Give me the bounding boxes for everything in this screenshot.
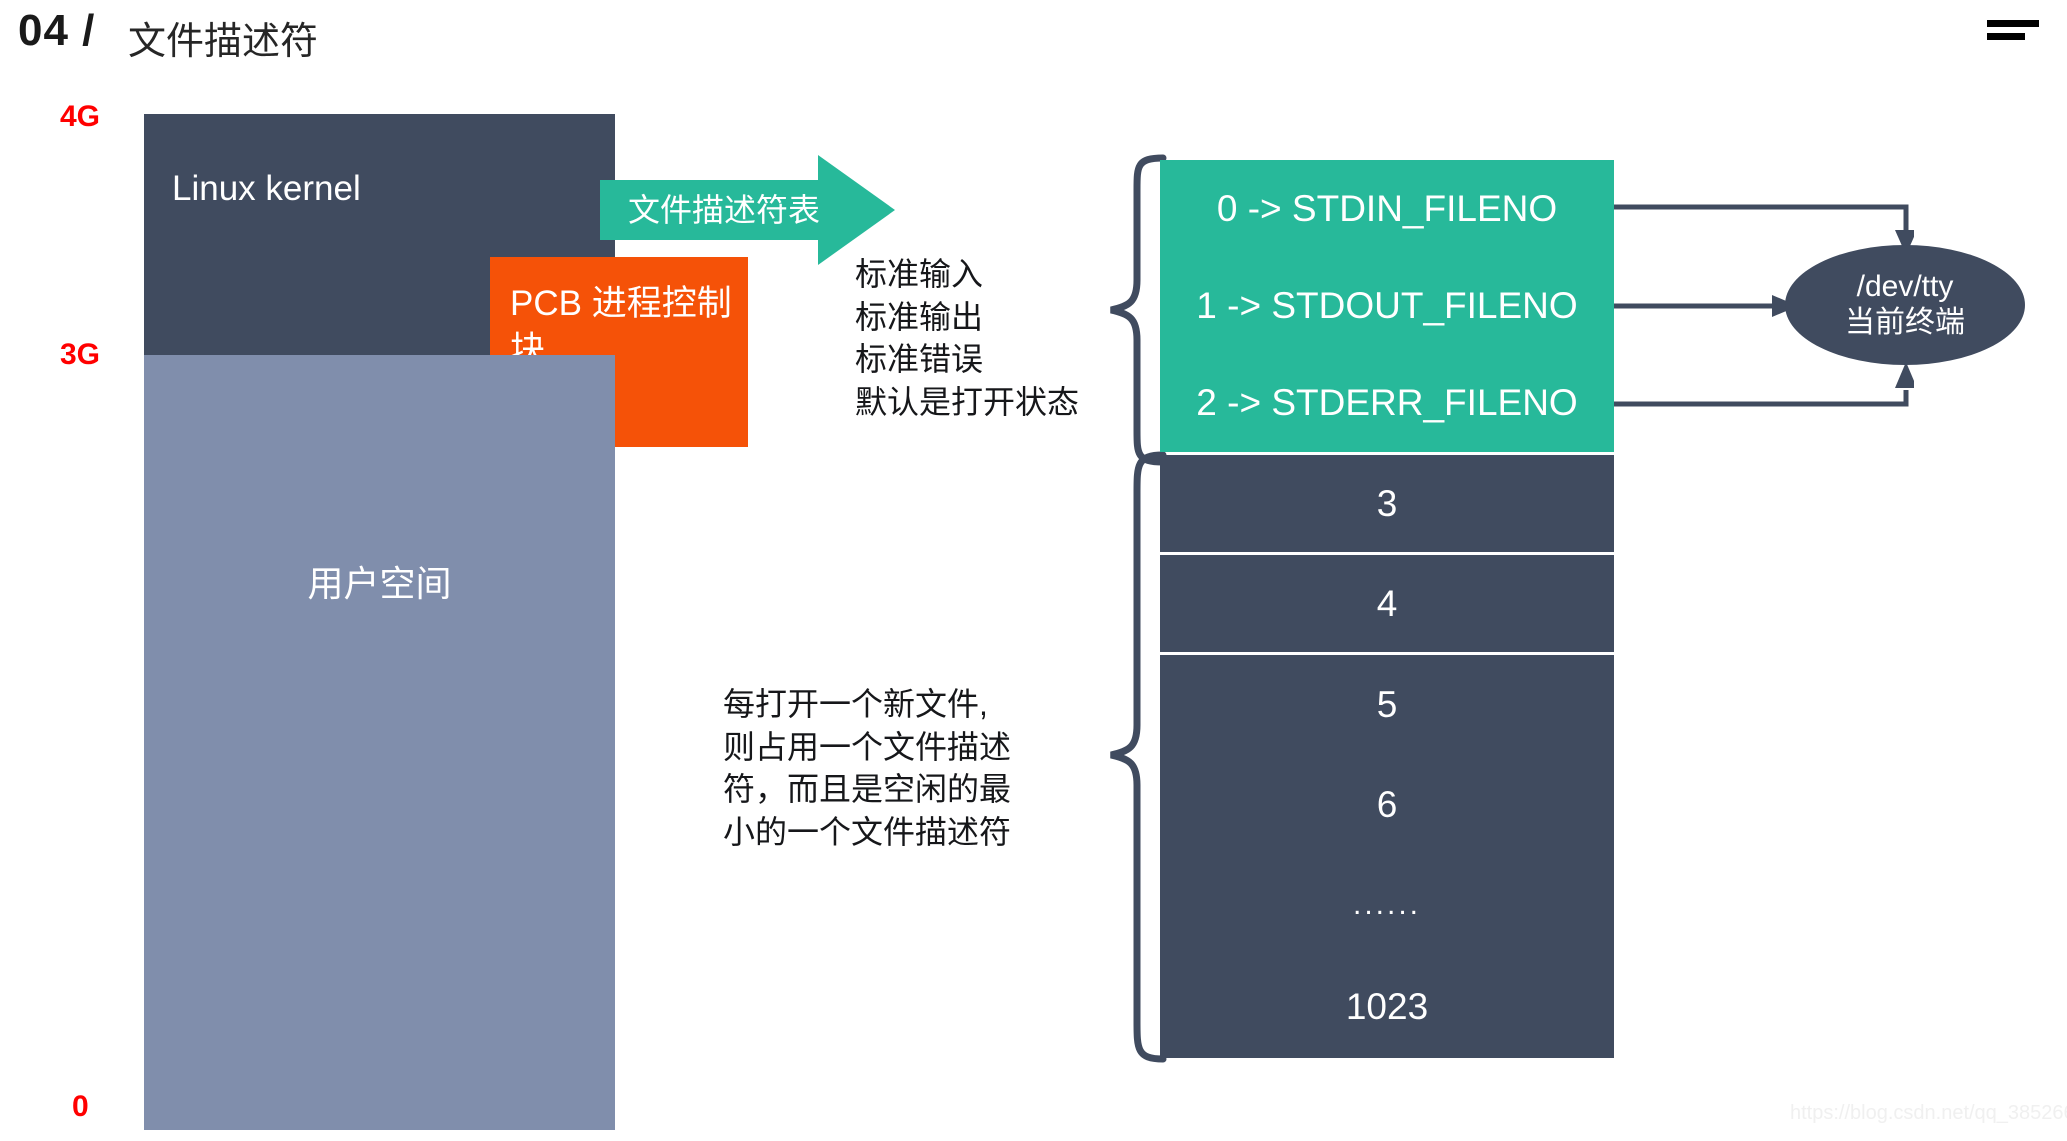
hamburger-bar-top bbox=[1987, 20, 2039, 27]
fd-table-standard: 0 -> STDIN_FILENO 1 -> STDOUT_FILENO 2 -… bbox=[1160, 160, 1614, 452]
hamburger-icon[interactable] bbox=[1987, 20, 2039, 46]
kernel-space-block: Linux kernel PCB 进程控制块 bbox=[144, 114, 615, 355]
user-space-label: 用户空间 bbox=[144, 555, 615, 607]
tty-path-label: /dev/tty bbox=[1857, 269, 1954, 305]
page-title: 文件描述符 bbox=[128, 10, 318, 65]
brace-other-fds bbox=[1085, 447, 1170, 1067]
kernel-space-label: Linux kernel bbox=[172, 166, 361, 212]
fd-row-stdout: 1 -> STDOUT_FILENO bbox=[1160, 257, 1614, 354]
brace-standard-fds bbox=[1085, 150, 1170, 470]
hamburger-bar-bottom bbox=[1987, 33, 2025, 40]
page-number: 04 / bbox=[18, 6, 95, 56]
fd-row-stdin: 0 -> STDIN_FILENO bbox=[1160, 160, 1614, 257]
user-space-block: 用户空间 bbox=[144, 355, 615, 1130]
tty-node: /dev/tty 当前终端 bbox=[1785, 245, 2025, 365]
fd-row-5: 5 bbox=[1160, 655, 1614, 755]
fd-table-arrow: 文件描述符表 bbox=[600, 155, 895, 265]
fd-table-other: 3 4 5 6 ...... 1023 bbox=[1160, 455, 1614, 1058]
open-file-rule-note: 每打开一个新文件, 则占用一个文件描述 符，而且是空闲的最 小的一个文件描述符 bbox=[723, 683, 1011, 853]
standard-streams-note: 标准输入 标准输出 标准错误 默认是打开状态 bbox=[855, 253, 1079, 423]
arrow-stdout-to-tty bbox=[1614, 295, 1798, 317]
arrow-stderr-to-tty bbox=[1614, 362, 1914, 404]
tty-connector-arrows bbox=[1614, 150, 1914, 590]
watermark: https://blog.csdn.net/qq_38526623 bbox=[1790, 1102, 2067, 1125]
fd-row-stderr: 2 -> STDERR_FILENO bbox=[1160, 355, 1614, 452]
fd-row-6: 6 bbox=[1160, 755, 1614, 855]
address-label-3g: 3G bbox=[60, 338, 100, 372]
fd-row-1023: 1023 bbox=[1160, 955, 1614, 1058]
slide-canvas: 04 / 文件描述符 4G 3G 0 Linux kernel PCB 进程控制… bbox=[0, 0, 2067, 1141]
fd-row-4: 4 bbox=[1160, 555, 1614, 655]
fd-row-3: 3 bbox=[1160, 455, 1614, 555]
tty-name-label: 当前终端 bbox=[1845, 305, 1965, 341]
address-label-4g: 4G bbox=[60, 100, 100, 134]
fd-row-ellipsis: ...... bbox=[1160, 855, 1614, 955]
fd-table-arrow-label: 文件描述符表 bbox=[628, 185, 858, 231]
address-label-0: 0 bbox=[72, 1090, 89, 1124]
